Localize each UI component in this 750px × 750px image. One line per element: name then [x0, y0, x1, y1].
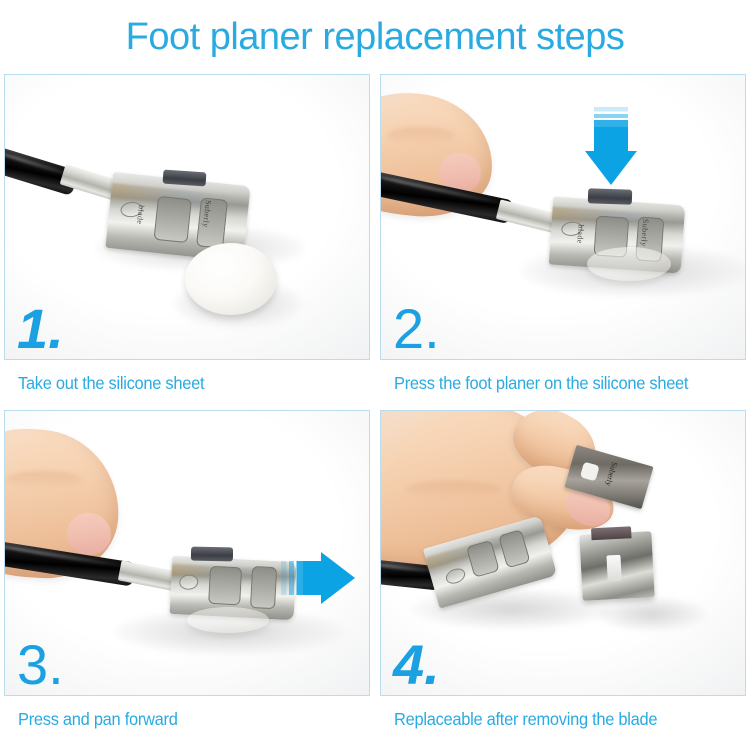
- knuckle-crease: [5, 471, 81, 489]
- down-arrow-stem: [594, 127, 628, 151]
- blade-engraving-suberly: Suberly: [604, 461, 620, 487]
- head-dark-clip: [588, 188, 632, 205]
- step-number-2: 2.: [393, 301, 440, 357]
- step-caption-2: Press the foot planer on the silicone sh…: [394, 373, 688, 394]
- engraving-suberly: Suberly: [639, 219, 650, 247]
- steps-grid: blade Suberly 1. Take out the silicone s…: [4, 74, 746, 746]
- step-number-4: 4.: [393, 637, 440, 693]
- step-photo-frame-3: 3.: [4, 410, 370, 696]
- head-oval-hole: [444, 566, 468, 587]
- right-arrow-stem: [303, 561, 321, 595]
- blade-notch: [580, 462, 600, 482]
- step-photo-frame-4: Suberly: [380, 410, 746, 696]
- head-center-slot: [154, 196, 192, 243]
- head-right-slot: [250, 566, 277, 609]
- step-caption-1: Take out the silicone sheet: [18, 373, 204, 394]
- foot-planer-instruction-infographic: Foot planer replacement steps: [0, 0, 750, 750]
- right-arrow-head: [321, 552, 355, 604]
- step-caption-4: Replaceable after removing the blade: [394, 709, 657, 730]
- step-cell-4: Suberly: [380, 410, 746, 746]
- engraving-blade: blade: [575, 224, 585, 244]
- down-arrow-tail: [594, 107, 628, 127]
- right-arrow-tail: [281, 561, 303, 595]
- engraving-blade: blade: [135, 205, 146, 225]
- step-number-3: 3.: [17, 637, 64, 693]
- knuckle-crease: [405, 481, 501, 499]
- page-title: Foot planer replacement steps: [0, 16, 750, 59]
- step-photo-frame-2: blade Suberly 2.: [380, 74, 746, 360]
- step-photo-frame-1: blade Suberly 1.: [4, 74, 370, 360]
- head-oval-hole: [179, 574, 199, 591]
- silicone-sheet: [185, 243, 277, 315]
- down-arrow-head: [585, 151, 637, 185]
- knuckle-crease: [387, 127, 455, 145]
- step-cell-2: blade Suberly 2. Press the foot planer o…: [380, 74, 746, 410]
- clip-shadow: [597, 597, 707, 631]
- clip-top-band: [591, 526, 632, 540]
- step-cell-1: blade Suberly 1. Take out the silicone s…: [4, 74, 370, 410]
- silicone-sheet: [587, 247, 671, 281]
- head-dark-clip: [191, 547, 233, 562]
- head-center-slot: [208, 566, 242, 606]
- detached-blade-clip: [579, 531, 654, 601]
- silicone-sheet: [187, 607, 269, 633]
- step-cell-3: 3. Press and pan forward: [4, 410, 370, 746]
- clip-cutout: [606, 555, 621, 582]
- step-caption-3: Press and pan forward: [18, 709, 178, 730]
- head-dark-clip: [163, 170, 207, 187]
- step-number-1: 1.: [17, 301, 64, 357]
